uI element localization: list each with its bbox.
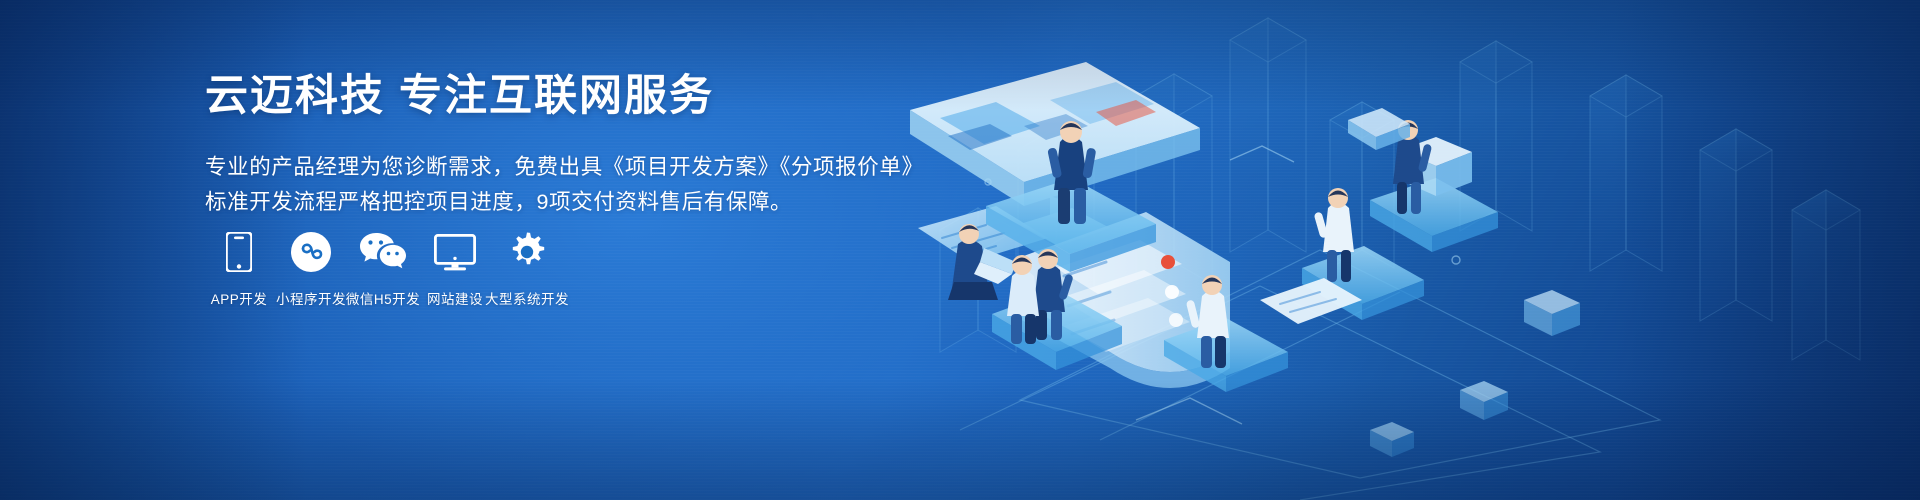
service-item-website[interactable]: 网站建设 — [419, 228, 491, 308]
service-item-app[interactable]: APP开发 — [203, 228, 275, 308]
page-title: 云迈科技 专注互联网服务 — [205, 72, 905, 121]
mini-program-icon — [291, 228, 331, 272]
service-item-system[interactable]: 大型系统开发 — [491, 228, 563, 308]
service-list: APP开发 小程序开发 — [203, 228, 563, 308]
service-item-mini-program[interactable]: 小程序开发 — [275, 228, 347, 308]
subtitle-line-2: 标准开发流程严格把控项目进度，9项交付资料售后有保障。 — [205, 185, 905, 220]
monitor-icon — [434, 228, 476, 272]
accent-cubes — [1370, 290, 1580, 457]
subtitle-line-1: 专业的产品经理为您诊断需求，免费出具《项目开发方案》《分项报价单》 — [205, 150, 905, 185]
mobile-phone-icon — [226, 228, 252, 272]
service-label: 微信H5开发 — [346, 288, 420, 308]
service-label: 小程序开发 — [276, 288, 346, 308]
banner-subtitle: 专业的产品经理为您诊断需求，免费出具《项目开发方案》《分项报价单》 标准开发流程… — [205, 150, 905, 220]
gear-icon — [507, 228, 547, 272]
service-item-wechat[interactable]: 微信H5开发 — [347, 228, 419, 308]
isometric-illustration — [900, 0, 1920, 500]
promo-banner: 云迈科技 专注互联网服务 专业的产品经理为您诊断需求，免费出具《项目开发方案》《… — [0, 0, 1920, 500]
service-label: 大型系统开发 — [485, 288, 569, 308]
wechat-icon — [360, 228, 406, 272]
banner-copy: 云迈科技 专注互联网服务 专业的产品经理为您诊断需求，免费出具《项目开发方案》《… — [205, 72, 905, 220]
service-label: 网站建设 — [427, 288, 483, 308]
service-label: APP开发 — [211, 288, 268, 308]
